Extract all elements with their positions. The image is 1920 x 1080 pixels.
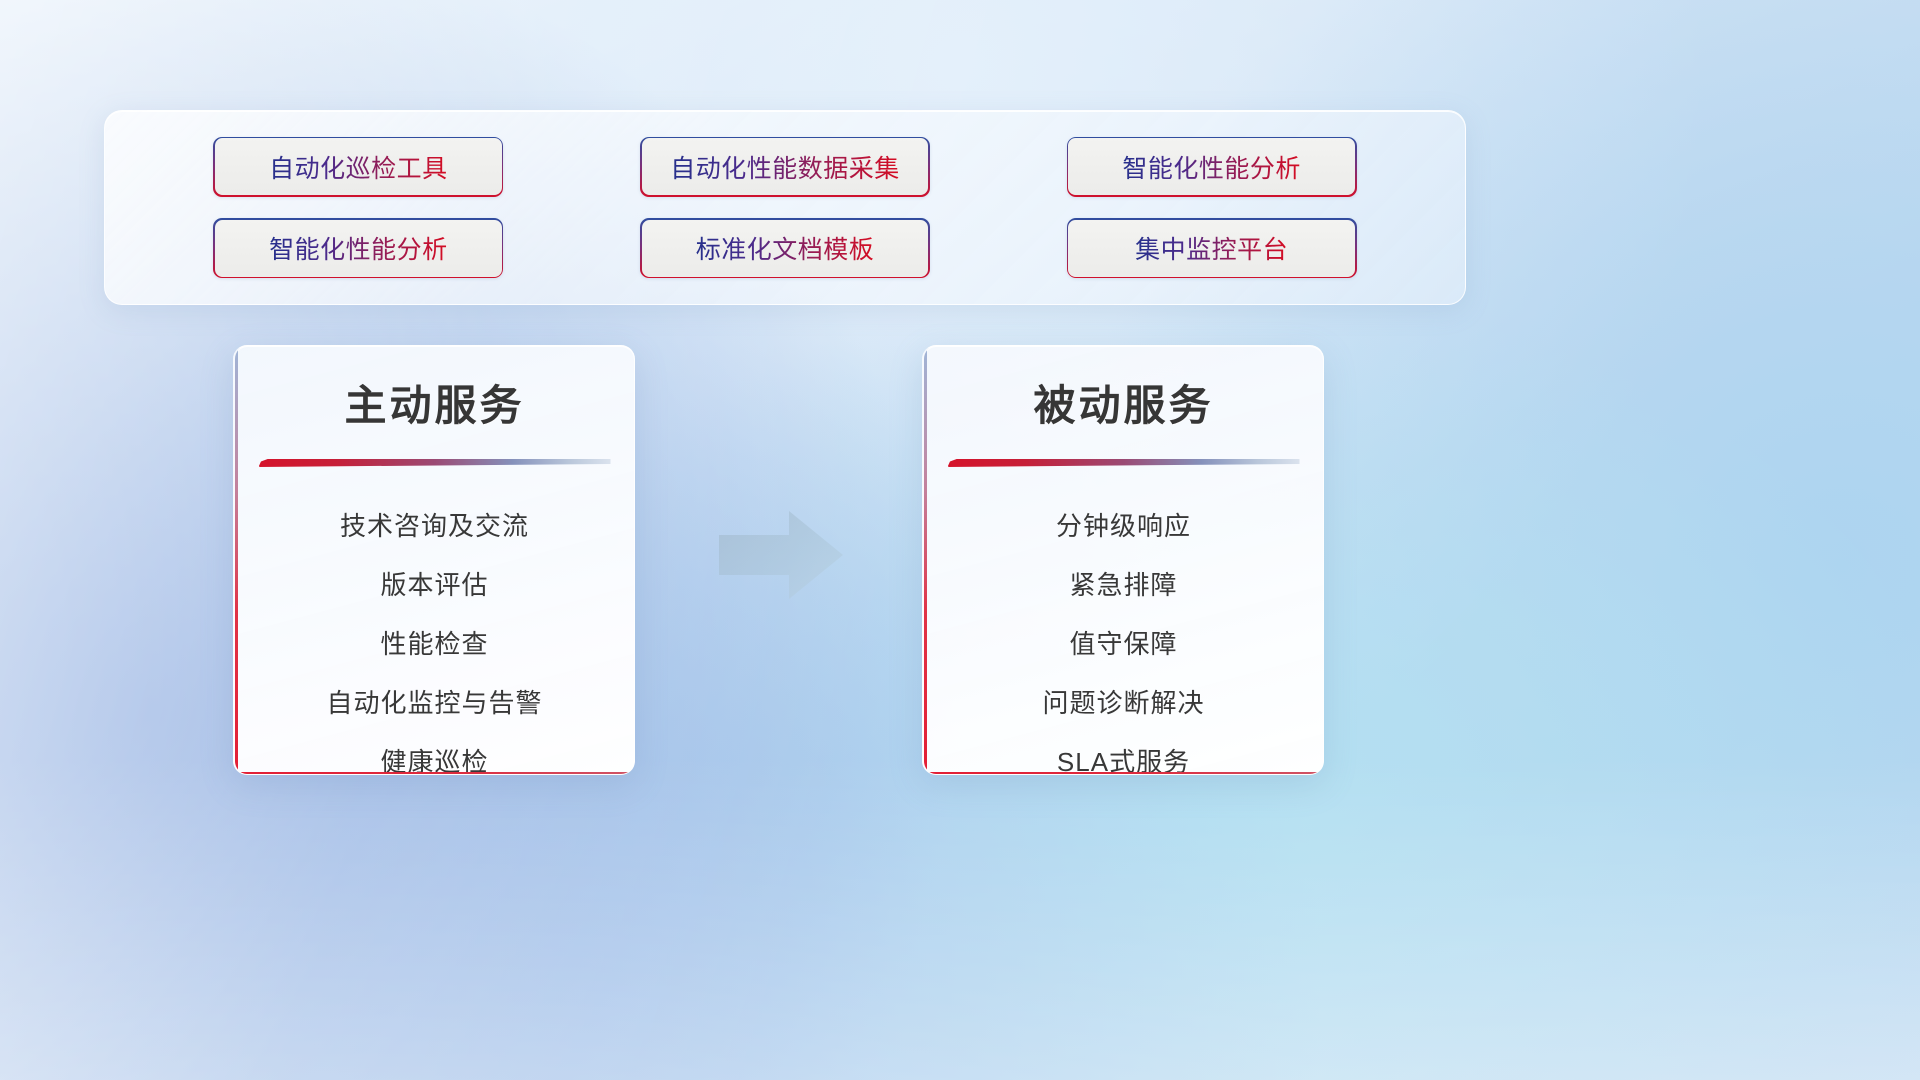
capability-chip-4-label: 智能化性能分析 [269, 230, 448, 266]
capability-chip-6-inner: 集中监控平台 [1068, 220, 1355, 277]
active-service-divider [259, 459, 611, 467]
list-item: 健康巡检 [235, 733, 634, 775]
capability-chip-3-label: 智能化性能分析 [1122, 149, 1301, 185]
capability-chip-2[interactable]: 自动化性能数据采集 [640, 137, 930, 197]
capability-chip-4[interactable]: 智能化性能分析 [213, 218, 503, 278]
capability-chip-1[interactable]: 自动化巡检工具 [213, 137, 503, 197]
capability-chip-1-label: 自动化巡检工具 [269, 149, 448, 185]
capability-chip-2-inner: 自动化性能数据采集 [642, 138, 929, 195]
capability-chip-6-label: 集中监控平台 [1135, 230, 1288, 266]
list-item: 紧急排障 [924, 556, 1323, 615]
active-service-list: 技术咨询及交流 版本评估 性能检查 自动化监控与告警 健康巡检 [235, 497, 634, 775]
arrow-right-icon [715, 505, 847, 605]
capability-chip-6[interactable]: 集中监控平台 [1067, 218, 1357, 278]
capability-chip-2-label: 自动化性能数据采集 [670, 149, 900, 185]
list-item: 自动化监控与告警 [235, 674, 634, 733]
passive-service-list: 分钟级响应 紧急排障 值守保障 问题诊断解决 SLA式服务 [924, 497, 1323, 775]
capability-chip-5[interactable]: 标准化文档模板 [640, 218, 930, 278]
list-item: 性能检查 [235, 615, 634, 674]
passive-service-divider [948, 459, 1300, 467]
passive-service-title: 被动服务 [924, 372, 1323, 433]
capability-chip-3-inner: 智能化性能分析 [1068, 138, 1355, 195]
list-item: 值守保障 [924, 615, 1323, 674]
capability-chip-5-inner: 标准化文档模板 [642, 220, 929, 277]
capability-chip-3[interactable]: 智能化性能分析 [1067, 137, 1357, 197]
list-item: 问题诊断解决 [924, 674, 1323, 733]
passive-service-card: 被动服务 分钟级响应 紧急排障 值守保障 问题诊断解决 SLA式服务 [922, 345, 1324, 775]
capability-chip-4-inner: 智能化性能分析 [215, 220, 502, 277]
active-service-card: 主动服务 技术咨询及交流 版本评估 性能检查 自动化监控与告警 健康巡检 [233, 345, 635, 775]
list-item: SLA式服务 [924, 733, 1323, 775]
capability-chip-5-label: 标准化文档模板 [696, 230, 875, 266]
active-service-title: 主动服务 [235, 372, 634, 433]
list-item: 版本评估 [235, 556, 634, 615]
list-item: 分钟级响应 [924, 497, 1323, 556]
list-item: 技术咨询及交流 [235, 497, 634, 556]
capability-tags-panel: 自动化巡检工具 自动化性能数据采集 智能化性能分析 智能化性能分析 标准化文档模… [104, 110, 1466, 305]
capability-chip-1-inner: 自动化巡检工具 [215, 138, 502, 195]
